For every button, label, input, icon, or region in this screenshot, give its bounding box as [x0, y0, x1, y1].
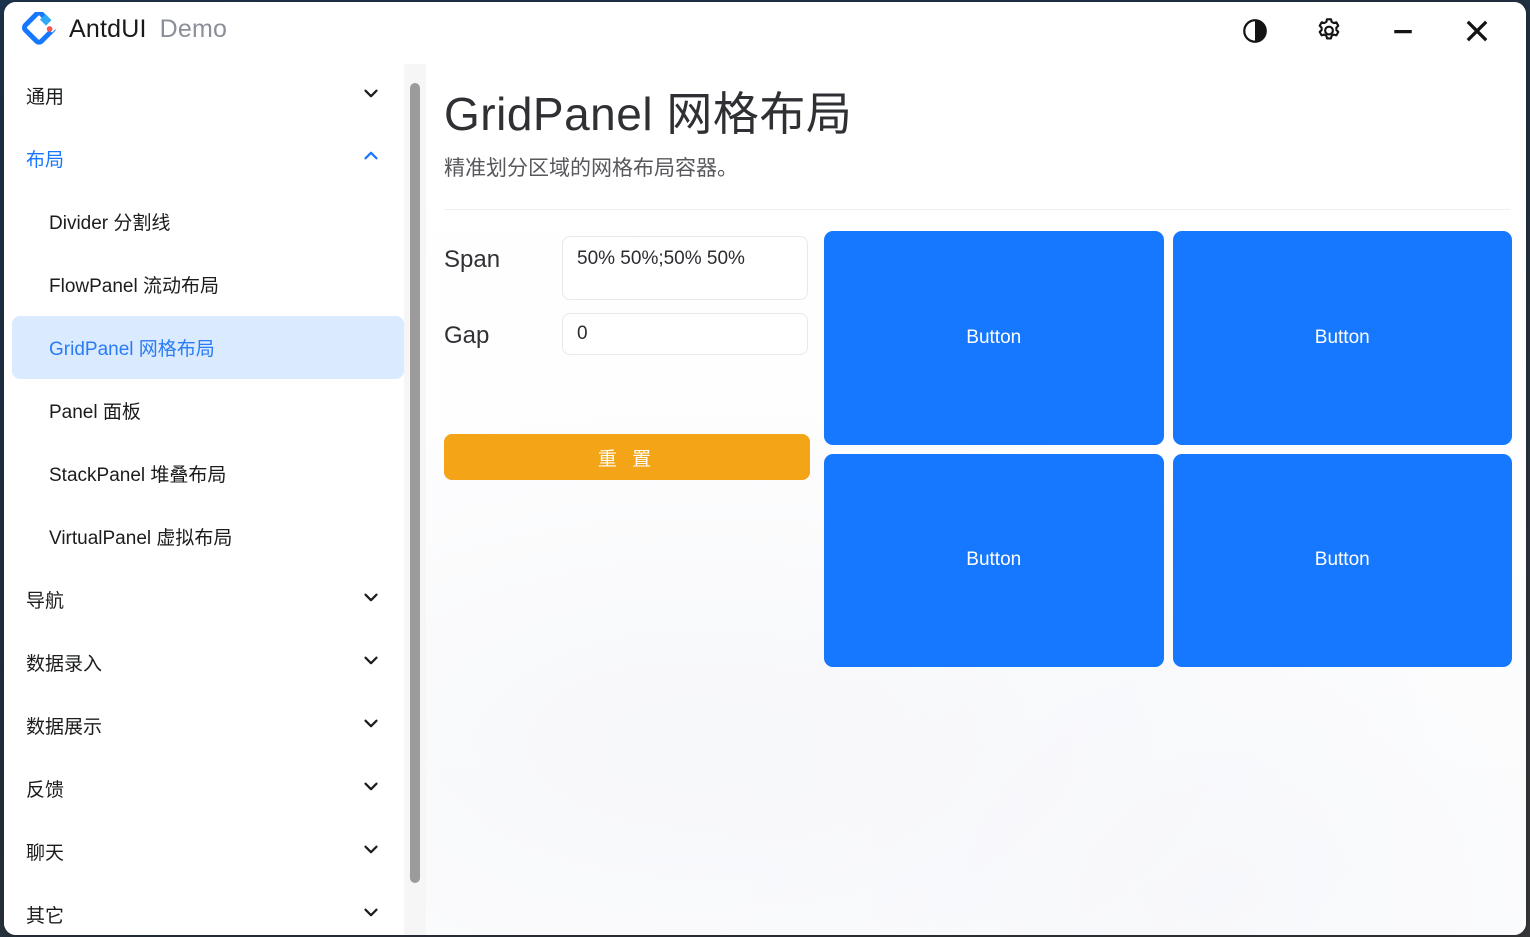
gap-label: Gap [444, 322, 489, 350]
sidebar-item-divider[interactable]: Divider 分割线 [12, 190, 404, 253]
sidebar-item-label: VirtualPanel 虚拟布局 [49, 523, 232, 550]
grid-button-3[interactable]: Button [824, 454, 1164, 668]
sidebar-group-label: 其它 [26, 901, 360, 928]
gap-input[interactable] [562, 313, 808, 355]
sidebar[interactable]: 通用 布局 Divider 分割线 FlowPanel 流动布局 [4, 64, 404, 935]
sidebar-item-label: Panel 面板 [49, 397, 141, 424]
sidebar-group-label: 导航 [26, 586, 360, 613]
span-row: Span [444, 224, 812, 300]
theme-toggle-icon [1241, 17, 1269, 50]
grid-config-form: Span Gap 重 置 [444, 224, 812, 376]
sidebar-group-general[interactable]: 通用 [4, 64, 404, 127]
sidebar-group-feedback[interactable]: 反馈 [4, 757, 404, 820]
page-title: GridPanel 网格布局 [444, 78, 852, 144]
desktop-backdrop: AntdUI Demo [0, 0, 1530, 937]
theme-toggle-button[interactable] [1218, 2, 1292, 64]
brand-name: AntdUI [69, 15, 147, 44]
close-button[interactable] [1440, 2, 1514, 64]
sidebar-group-label: 通用 [26, 82, 360, 109]
gap-row: Gap [444, 300, 812, 376]
chevron-up-icon [360, 145, 382, 172]
main-content: GridPanel 网格布局 精准划分区域的网格布局容器。 Span Gap 重… [426, 64, 1526, 935]
sidebar-group-label: 聊天 [26, 838, 360, 865]
minimize-icon [1388, 16, 1418, 51]
grid-panel-preview: Button Button Button Button [824, 231, 1512, 667]
sidebar-group-data-display[interactable]: 数据展示 [4, 694, 404, 757]
brand: AntdUI Demo [22, 12, 227, 46]
title-bar: AntdUI Demo [4, 2, 1526, 65]
minimize-button[interactable] [1366, 2, 1440, 64]
sidebar-item-label: Divider 分割线 [49, 208, 170, 235]
brand-subtitle: Demo [160, 15, 228, 44]
chevron-down-icon [360, 712, 382, 739]
settings-button[interactable] [1292, 2, 1366, 64]
chevron-down-icon [360, 586, 382, 613]
antdui-logo-icon [22, 12, 56, 46]
sidebar-group-navigation[interactable]: 导航 [4, 568, 404, 631]
sidebar-group-label: 反馈 [26, 775, 360, 802]
span-input[interactable] [562, 236, 808, 300]
reset-button[interactable]: 重 置 [444, 434, 810, 480]
sidebar-group-chat[interactable]: 聊天 [4, 820, 404, 883]
sidebar-item-label: StackPanel 堆叠布局 [49, 460, 226, 487]
sidebar-scroll-content: 通用 布局 Divider 分割线 FlowPanel 流动布局 [4, 64, 404, 935]
sidebar-item-panel[interactable]: Panel 面板 [12, 379, 404, 442]
sidebar-item-gridpanel[interactable]: GridPanel 网格布局 [12, 316, 404, 379]
sidebar-item-flowpanel[interactable]: FlowPanel 流动布局 [12, 253, 404, 316]
grid-button-1[interactable]: Button [824, 231, 1164, 445]
grid-button-4[interactable]: Button [1173, 454, 1513, 668]
sidebar-group-data-entry[interactable]: 数据录入 [4, 631, 404, 694]
chevron-down-icon [360, 901, 382, 928]
sidebar-item-label: FlowPanel 流动布局 [49, 271, 219, 298]
sidebar-group-label: 数据展示 [26, 712, 360, 739]
chevron-down-icon [360, 649, 382, 676]
chevron-down-icon [360, 775, 382, 802]
close-icon [1460, 14, 1494, 53]
sidebar-scrollbar-thumb[interactable] [410, 83, 420, 883]
page-subtitle: 精准划分区域的网格布局容器。 [444, 152, 738, 182]
sidebar-group-label: 布局 [26, 145, 360, 172]
chevron-down-icon [360, 838, 382, 865]
span-label: Span [444, 246, 500, 274]
app-window: AntdUI Demo [4, 2, 1526, 935]
sidebar-group-label: 数据录入 [26, 649, 360, 676]
chevron-down-icon [360, 82, 382, 109]
window-controls [1218, 2, 1514, 64]
header-divider [444, 209, 1510, 210]
sidebar-item-label: GridPanel 网格布局 [49, 334, 215, 361]
sidebar-item-virtualpanel[interactable]: VirtualPanel 虚拟布局 [12, 505, 404, 568]
sidebar-group-layout[interactable]: 布局 [4, 127, 404, 190]
grid-button-2[interactable]: Button [1173, 231, 1513, 445]
gear-icon [1314, 16, 1344, 51]
sidebar-item-stackpanel[interactable]: StackPanel 堆叠布局 [12, 442, 404, 505]
sidebar-group-other[interactable]: 其它 [4, 883, 404, 935]
